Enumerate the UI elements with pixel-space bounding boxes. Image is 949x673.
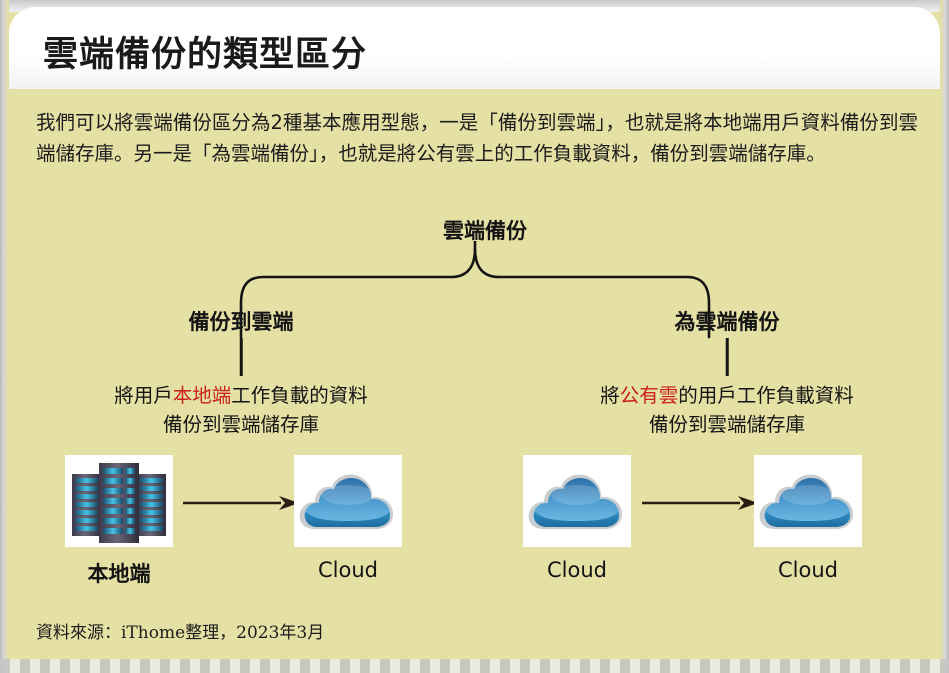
desc-left-highlight: 本地端 xyxy=(173,384,232,407)
desc-right-post: 的用戶工作負載資料 xyxy=(678,384,854,407)
icon-caption: Cloud xyxy=(294,558,402,582)
desc-left-post: 工作負載的資料 xyxy=(231,384,368,407)
page-title: 雲端備份的類型區分 xyxy=(43,26,367,77)
branch-description-left-line2: 備份到雲端儲存庫 xyxy=(114,410,368,439)
icon-cell-local-site: 本地端 xyxy=(65,455,173,588)
icon-cell-cloud-2: Cloud xyxy=(523,455,631,582)
icon-box xyxy=(65,455,173,547)
icon-caption: Cloud xyxy=(754,558,862,582)
connector-line-left xyxy=(240,338,243,376)
source-note: 資料來源：iThome整理，2023年3月 xyxy=(36,618,324,643)
icon-row: 本地端 xyxy=(9,455,940,605)
desc-left-pre: 將用戶 xyxy=(114,384,173,407)
branch-description-right-line2: 備份到雲端儲存庫 xyxy=(600,410,854,439)
page-edge-bottom xyxy=(0,659,949,673)
tree-branch-label-right: 為雲端備份 xyxy=(675,306,780,336)
icon-box xyxy=(294,455,402,547)
tree-branch-label-left: 備份到雲端 xyxy=(189,306,294,336)
branch-description-left: 將用戶本地端工作負載的資料 備份到雲端儲存庫 xyxy=(114,381,368,439)
cloud-icon xyxy=(523,455,631,547)
icon-caption: 本地端 xyxy=(65,558,173,588)
desc-right-pre: 將 xyxy=(600,384,620,407)
server-rack-icon xyxy=(65,455,173,547)
icon-cell-cloud-1: Cloud xyxy=(294,455,402,582)
page-edge-left xyxy=(0,0,9,673)
infographic-root: 雲端備份的類型區分 我們可以將雲端備份區分為2種基本應用型態，一是「備份到雲端」… xyxy=(0,0,949,673)
icon-box xyxy=(754,455,862,547)
connector-line-right xyxy=(726,338,729,376)
arrow-right-icon xyxy=(181,493,301,513)
icon-caption: Cloud xyxy=(523,558,631,582)
icon-cell-cloud-3: Cloud xyxy=(754,455,862,582)
icon-box xyxy=(523,455,631,547)
arrow-right-icon xyxy=(640,493,760,513)
branch-description-left-line1: 將用戶本地端工作負載的資料 xyxy=(114,381,368,410)
cloud-icon xyxy=(294,455,402,547)
branch-description-right-line1: 將公有雲的用戶工作負載資料 xyxy=(600,381,854,410)
header-card: 雲端備份的類型區分 xyxy=(9,7,940,89)
desc-right-highlight: 公有雲 xyxy=(620,384,679,407)
cloud-icon xyxy=(754,455,862,547)
branch-description-right: 將公有雲的用戶工作負載資料 備份到雲端儲存庫 xyxy=(600,381,854,439)
body-area: 我們可以將雲端備份區分為2種基本應用型態，一是「備份到雲端」，也就是將本地端用戶… xyxy=(9,89,940,659)
brace-connector-icon xyxy=(219,241,731,341)
page-edge-right xyxy=(940,0,949,673)
